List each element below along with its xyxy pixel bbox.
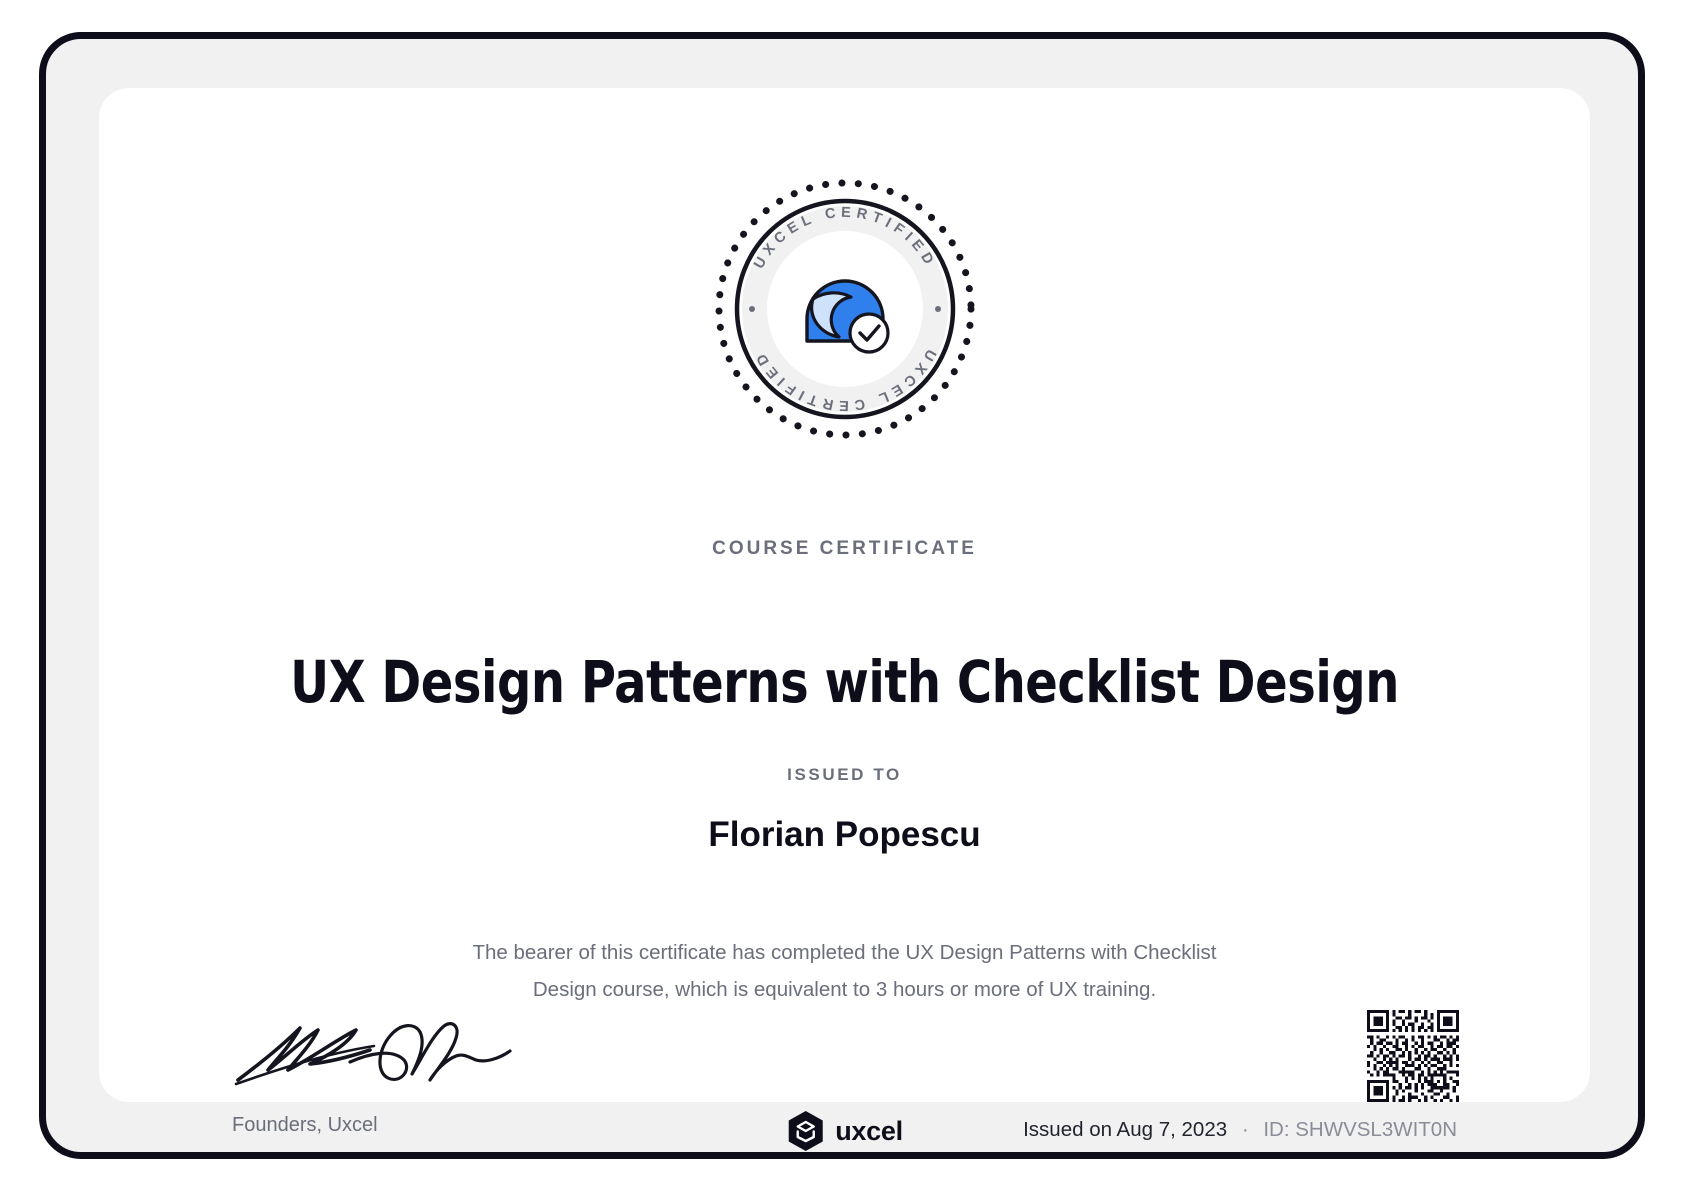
uxcel-certified-seal-icon: UXCEL CERTIFIED UXCEL CERTIFIED — [709, 173, 981, 445]
signature-caption: Founders, Uxcel — [232, 1114, 562, 1137]
uxcel-brand-logo: uxcel — [786, 1110, 903, 1152]
course-certificate-kicker: COURSE CERTIFICATE — [99, 538, 1590, 560]
certificate-page: UXCEL CERTIFIED UXCEL CERTIFIED — [0, 0, 1684, 1190]
recipient-name: Florian Popescu — [99, 815, 1590, 855]
certificate-title: UX Design Patterns with Checklist Design — [214, 651, 1475, 714]
certificate-outer-frame: UXCEL CERTIFIED UXCEL CERTIFIED — [39, 32, 1645, 1159]
uxcel-hexagon-cube-icon — [786, 1110, 824, 1152]
certificate-id: ID: SHWVSL3WIT0N — [1263, 1118, 1457, 1141]
certificate-description: The bearer of this certificate has compl… — [455, 934, 1235, 1008]
issued-to-label: ISSUED TO — [99, 765, 1590, 785]
certified-badge: UXCEL CERTIFIED UXCEL CERTIFIED — [709, 173, 981, 445]
qr-code-icon[interactable] — [1367, 1010, 1459, 1102]
certificate-card: UXCEL CERTIFIED UXCEL CERTIFIED — [99, 88, 1590, 1102]
issue-meta: Issued on Aug 7, 2023 · ID: SHWVSL3WIT0N — [1023, 1118, 1457, 1142]
meta-separator: · — [1242, 1118, 1249, 1141]
issued-on-date: Issued on Aug 7, 2023 — [1023, 1118, 1227, 1141]
founders-signature-icon — [232, 1018, 532, 1098]
uxcel-wordmark: uxcel — [835, 1116, 903, 1147]
certificate-qr-code[interactable] — [1367, 1010, 1459, 1102]
signature-block: Founders, Uxcel — [232, 1018, 562, 1137]
